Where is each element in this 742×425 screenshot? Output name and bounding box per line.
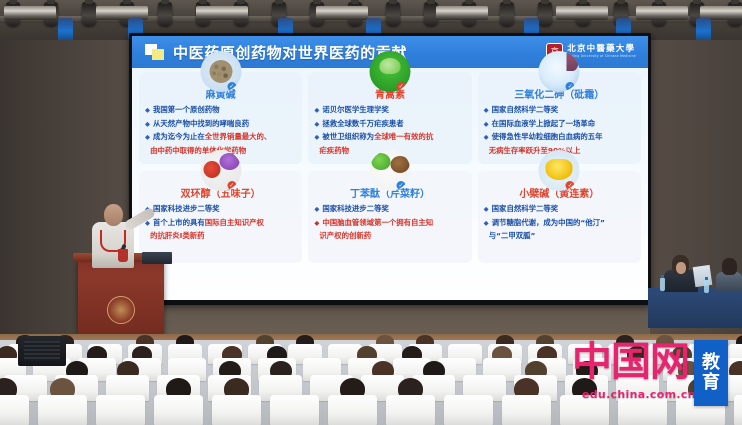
bullet-icon: ◆	[314, 204, 319, 215]
drug-card: ✓丁苯酞（芹菜籽）◆国家科技进步二等奖◆中国脑血管领域第一个拥有自主知 识产权的…	[308, 171, 471, 263]
bullet-icon: ◆	[314, 119, 319, 130]
card-bullet: 识产权的创新药	[314, 231, 466, 242]
card-bullet-text: 我国第一个原创药物	[153, 105, 220, 116]
card-bullet-text: 诺贝尔医学生理学奖	[322, 105, 389, 116]
card-bullet-text: 国家自然科学二等奖	[492, 204, 559, 215]
light-bar	[636, 6, 688, 20]
audience-chair	[0, 395, 29, 425]
highlighted-text: 国际自主知识产权	[205, 218, 264, 227]
document-sheet	[693, 265, 713, 287]
drug-card: ✓双环醇（五味子）◆国家科技进步二等奖◆首个上市的具有国际自主知识产权 的抗肝炎…	[139, 171, 302, 263]
check-icon: ✓	[396, 181, 405, 190]
spotlight-icon	[82, 2, 96, 26]
card-bullet: ◆中国脑血管领域第一个拥有自主知	[314, 218, 466, 229]
check-icon: ✓	[566, 82, 575, 91]
card-bullet: ◆国家自然科学二等奖	[484, 105, 636, 116]
light-bar	[4, 6, 56, 20]
watermark-logo: 中国网	[572, 342, 689, 382]
card-bullet: ◆从天然产物中找到的哮喘良药	[145, 119, 297, 130]
bullet-icon: ◆	[145, 119, 150, 130]
audience-chair	[734, 395, 742, 425]
card-bullet: ◆被世卫组织称为全球唯一有效的抗	[314, 132, 466, 143]
card-bullet-text: 疟疾药物	[319, 146, 349, 157]
light-bar	[196, 6, 248, 20]
bullet-icon: ◆	[314, 218, 319, 229]
check-icon: ✓	[227, 82, 236, 91]
card-bullet-text: 在国际血液学上掀起了一场革命	[492, 119, 595, 130]
laptop	[142, 252, 172, 264]
bullet-spacer	[484, 231, 486, 242]
check-icon: ✓	[227, 181, 236, 190]
card-bullet: ◆调节糖脂代谢，成为中国的“他汀”	[484, 218, 636, 229]
schisandra-berries-photo: ✓	[200, 150, 241, 191]
two-squares-icon	[145, 44, 164, 61]
audience-chair	[96, 395, 145, 425]
bullet-spacer	[145, 146, 147, 157]
bullet-icon: ◆	[484, 204, 489, 215]
bullet-spacer	[314, 231, 316, 242]
check-icon: ✓	[566, 181, 575, 190]
card-bullet: 与“二甲双胍”	[484, 231, 636, 242]
bullet-icon: ◆	[484, 105, 489, 116]
panelist-2-body	[716, 272, 742, 292]
card-bullet-text: 国家自然科学二等奖	[492, 105, 559, 116]
badge-char-1: 教	[702, 354, 720, 372]
light-bar	[436, 6, 488, 20]
water-bottle	[704, 280, 709, 293]
audience-chair	[154, 395, 203, 425]
bullet-icon: ◆	[484, 119, 489, 130]
drug-card: ✓小檗碱（黄连素）◆国家自然科学二等奖◆调节糖脂代谢，成为中国的“他汀” 与“二…	[478, 171, 641, 263]
spotlight-icon	[386, 2, 400, 26]
panel-table	[648, 288, 742, 328]
card-row-bottom: ✓双环醇（五味子）◆国家科技进步二等奖◆首个上市的具有国际自主知识产权 的抗肝炎…	[139, 171, 641, 263]
bullet-icon: ◆	[314, 132, 319, 143]
bullet-spacer	[484, 146, 486, 157]
card-bullet: ◆国家科技进步二等奖	[314, 204, 466, 215]
bullet-icon: ◆	[145, 132, 150, 143]
card-bullet-text: 识产权的创新药	[319, 231, 371, 242]
card-bullet-text: 拯救全球数千万疟疾患者	[322, 119, 403, 130]
card-bullet-text: 中国脑血管领域第一个拥有自主知	[322, 218, 433, 229]
audience-chair	[502, 395, 551, 425]
card-bullet: ◆国家自然科学二等奖	[484, 204, 636, 215]
panelist-1-face	[676, 262, 686, 274]
card-bullet-text: 成为迄今为止在全世界销量最大的、	[153, 132, 271, 143]
card-bullet-text: 国家科技进步二等奖	[322, 204, 389, 215]
badge-char-2: 育	[702, 374, 720, 392]
berberine-powder-photo: ✓	[539, 150, 580, 191]
audience-chair	[270, 395, 319, 425]
card-bullet: ◆使得急性早幼粒细胞白血病的五年	[484, 132, 636, 143]
celery-seed-photo: ✓	[369, 150, 410, 191]
bullet-icon: ◆	[484, 132, 489, 143]
university-name-cn: 北京中醫藥大學	[567, 45, 636, 54]
arsenic-trioxide-powder-photo: ✓	[539, 51, 580, 92]
card-bullet-text: 国家科技进步二等奖	[153, 204, 220, 215]
watermark-url: edu.china.com.cn	[582, 388, 696, 401]
audience-chair	[328, 395, 377, 425]
pa-speaker	[18, 336, 66, 366]
bullet-spacer	[314, 146, 316, 157]
audience-chair	[386, 395, 435, 425]
card-bullet-text: 使得急性早幼粒细胞白血病的五年	[492, 132, 603, 143]
card-bullet-text: 调节糖脂代谢，成为中国的“他汀”	[492, 218, 605, 229]
card-bullet-text: 从天然产物中找到的哮喘良药	[153, 119, 249, 130]
bullet-icon: ◆	[484, 218, 489, 229]
bullet-icon: ◆	[145, 105, 150, 116]
highlighted-text: 全球唯一有效的抗	[374, 132, 433, 141]
spotlight-icon	[158, 2, 172, 26]
card-bullet: ◆成为迄今为止在全世界销量最大的、	[145, 132, 297, 143]
check-icon: ✓	[396, 82, 405, 91]
card-bullet: ◆国家科技进步二等奖	[145, 204, 297, 215]
conference-hall-photo: 中医药原创药物对世界医药的贡献 京 北京中醫藥大學 Beijing Univer…	[0, 0, 742, 425]
podium-emblem	[107, 296, 135, 324]
water-bottle	[660, 278, 665, 291]
slide-body: ✓麻黄碱◆我国第一个原创药物◆从天然产物中找到的哮喘良药◆成为迄今为止在全世界销…	[132, 68, 648, 300]
ephedrine-herb-photo: ✓	[200, 51, 241, 92]
audience-chair	[212, 395, 261, 425]
card-bullet-text: 被世卫组织称为全球唯一有效的抗	[322, 132, 433, 143]
panelist-2-head	[722, 258, 737, 275]
card-bullet: ◆诺贝尔医学生理学奖	[314, 105, 466, 116]
watermark: 中国网 edu.china.com.cn 教 育	[572, 338, 732, 410]
card-bullet: ◆在国际血液学上掀起了一场革命	[484, 119, 636, 130]
bullet-icon: ◆	[314, 105, 319, 116]
card-bullet: ◆首个上市的具有国际自主知识产权	[145, 218, 297, 229]
audience-chair	[38, 395, 87, 425]
card-bullet-text: 首个上市的具有国际自主知识产权	[153, 218, 264, 229]
card-bullet: ◆我国第一个原创药物	[145, 105, 297, 116]
audience-chair	[444, 395, 493, 425]
watermark-education-badge: 教 育	[694, 340, 728, 406]
projection-screen: 中医药原创药物对世界医药的贡献 京 北京中醫藥大學 Beijing Univer…	[132, 36, 648, 300]
spotlight-icon	[500, 2, 514, 26]
speaker-head	[104, 204, 123, 226]
bullet-spacer	[145, 231, 147, 242]
card-bullet-text: 的抗肝炎Ⅰ类新药	[150, 231, 205, 242]
spotlight-icon	[538, 2, 552, 26]
highlighted-text: 全世界销量最大的、	[205, 132, 272, 141]
card-bullet-text: 与“二甲双胍”	[489, 231, 536, 242]
card-bullet: 的抗肝炎Ⅰ类新药	[145, 231, 297, 242]
light-bar	[316, 6, 368, 20]
card-bullet: ◆拯救全球数千万疟疾患者	[314, 119, 466, 130]
artemisia-plant-photo: ✓	[369, 51, 410, 92]
light-bar	[556, 6, 608, 20]
cup	[118, 249, 128, 262]
